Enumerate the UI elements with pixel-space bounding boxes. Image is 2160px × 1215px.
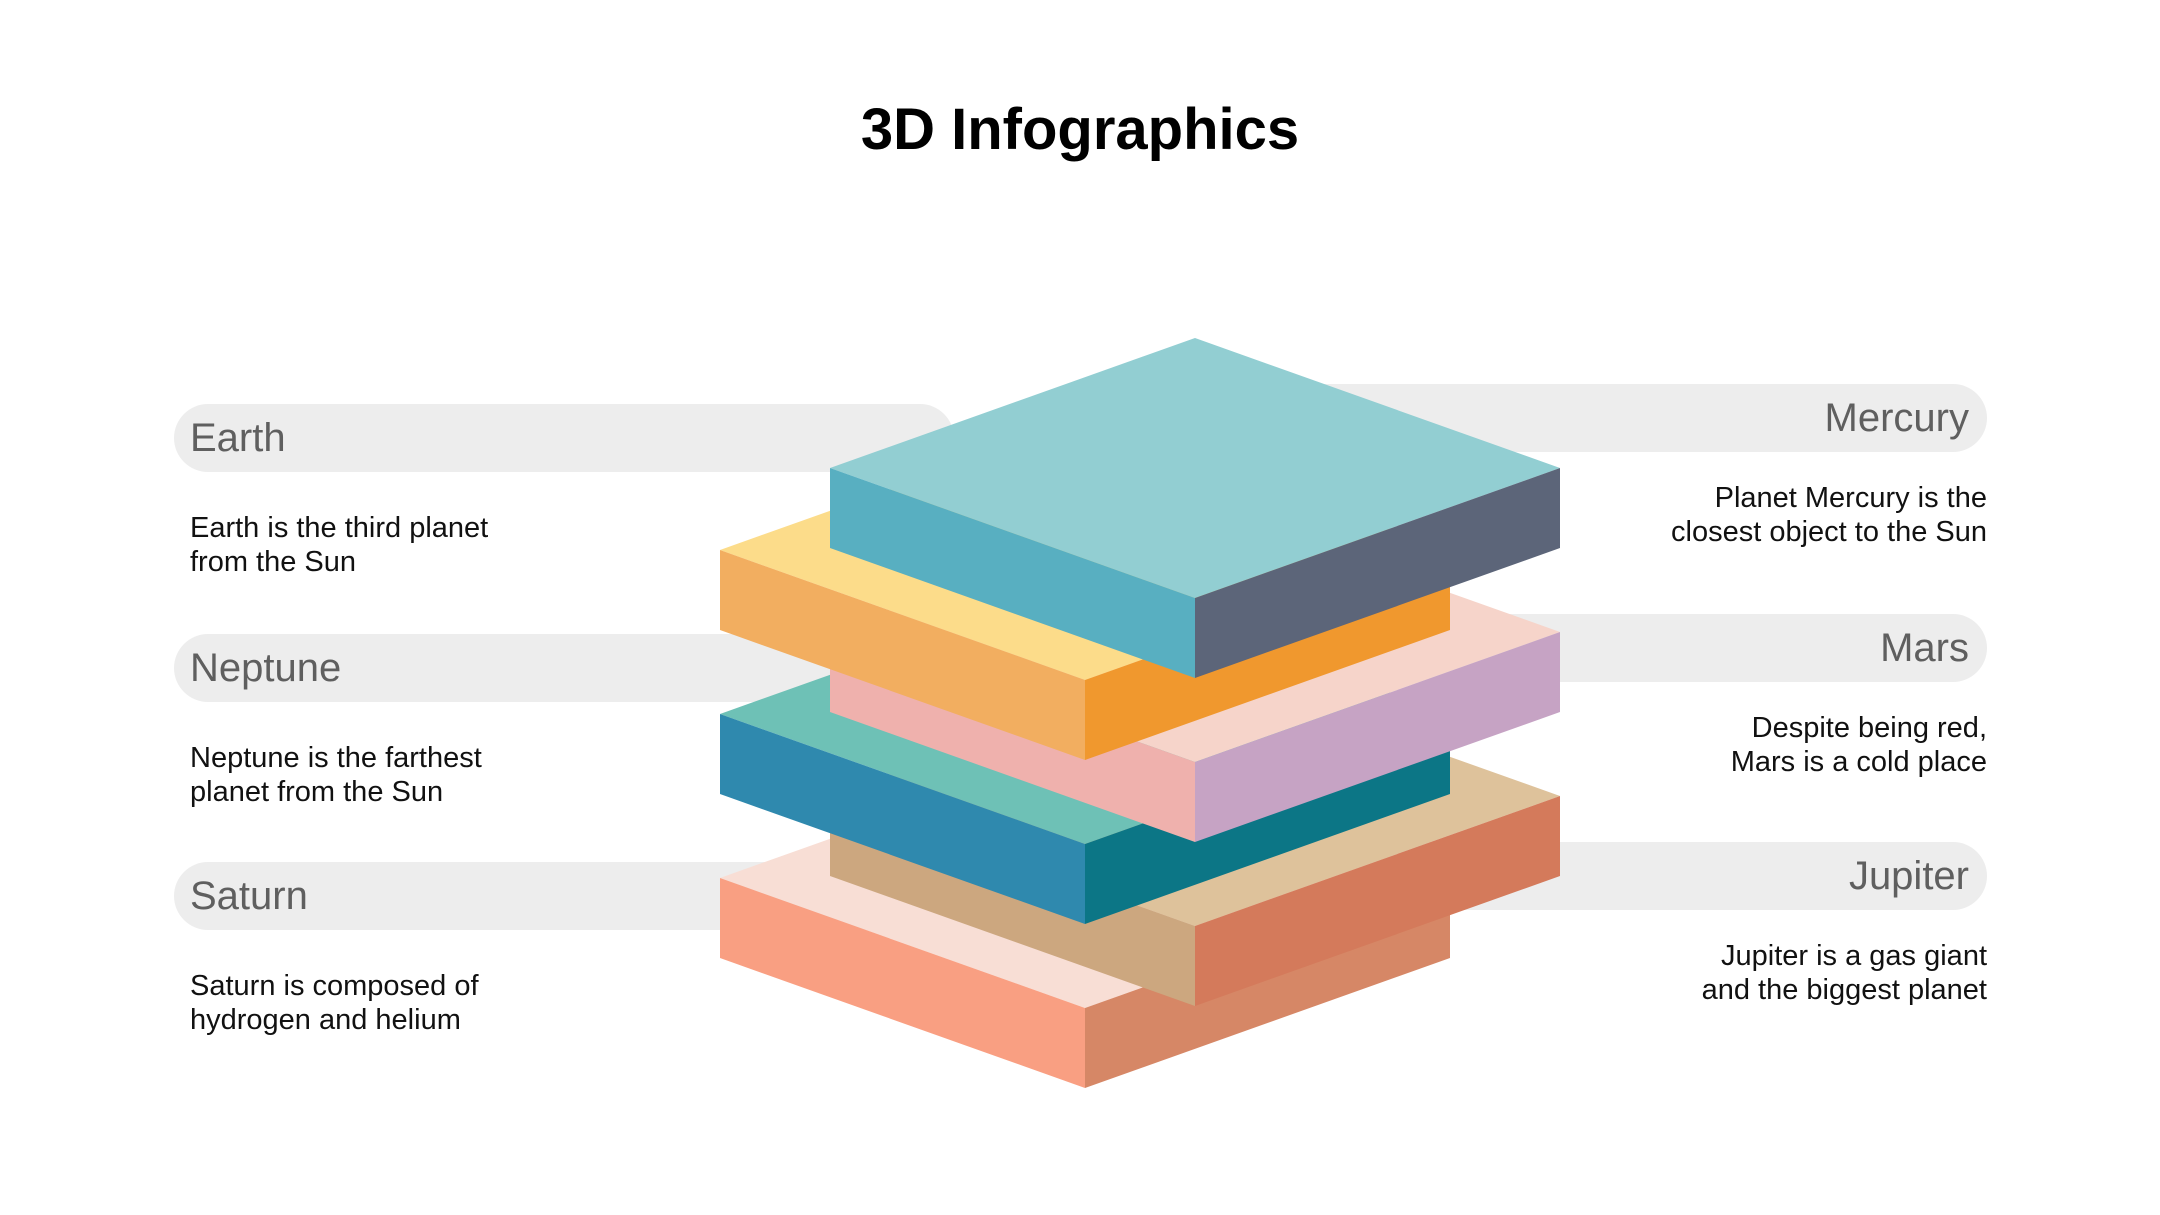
label-desc-earth: Earth is the third planet from the Sun [190,512,750,580]
label-pill-saturn[interactable]: Saturn [174,862,954,930]
page-title: 3D Infographics [0,96,2160,163]
label-desc-jupiter: Jupiter is a gas giant and the biggest p… [1427,940,1987,1008]
label-desc-neptune: Neptune is the farthest planet from the … [190,742,750,810]
label-desc-saturn: Saturn is composed of hydrogen and heliu… [190,970,750,1038]
label-pill-mars[interactable]: Mars [1207,614,1987,682]
label-title-jupiter: Jupiter [1849,856,1969,896]
label-pill-earth[interactable]: Earth [174,404,954,472]
label-title-neptune: Neptune [190,648,341,688]
label-title-saturn: Saturn [190,876,308,916]
infographic-canvas: 3D Infographics Earth Earth is the third… [0,0,2160,1215]
label-title-mars: Mars [1880,628,1969,668]
label-pill-mercury[interactable]: Mercury [1207,384,1987,452]
label-pill-jupiter[interactable]: Jupiter [1207,842,1987,910]
slab-mercury-top-face [830,338,1560,598]
label-desc-mercury: Planet Mercury is the closest object to … [1427,482,1987,550]
label-desc-mars: Despite being red, Mars is a cold place [1427,712,1987,780]
label-title-earth: Earth [190,418,286,458]
label-pill-neptune[interactable]: Neptune [174,634,954,702]
label-title-mercury: Mercury [1825,398,1969,438]
